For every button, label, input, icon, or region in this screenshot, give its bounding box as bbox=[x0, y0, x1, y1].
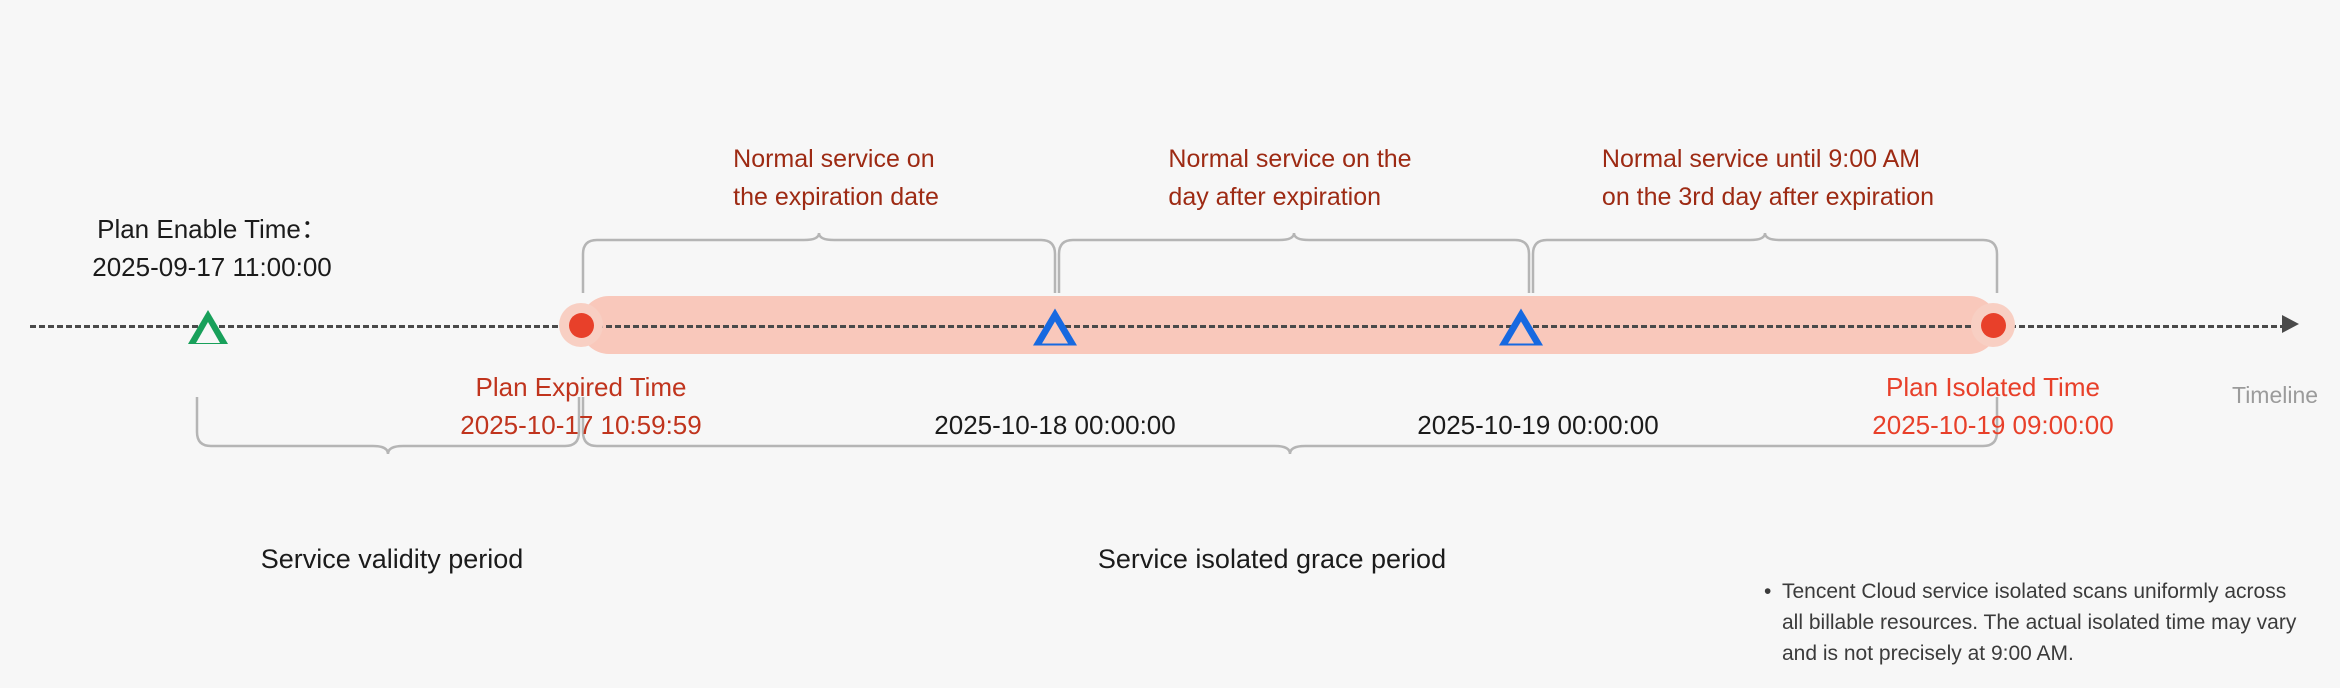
circle-red-inner-2 bbox=[1981, 313, 2006, 338]
service-isolated-grace-period-label: Service isolated grace period bbox=[1098, 540, 1446, 578]
triangle-green-outline-icon bbox=[188, 310, 228, 344]
footnote: • Tencent Cloud service isolated scans u… bbox=[1782, 576, 2302, 669]
plan-enable-time: 2025-09-17 11:00:00 bbox=[92, 248, 332, 286]
circle-red-filled-icon bbox=[559, 303, 603, 347]
timeline-axis-label: Timeline bbox=[2232, 382, 2318, 409]
third-day-after-expiration-time: 2025-10-19 00:00:00 bbox=[1417, 406, 1658, 444]
brace-normal-service-third-day bbox=[1532, 232, 1998, 294]
footnote-text: Tencent Cloud service isolated scans uni… bbox=[1782, 580, 2296, 665]
brace-normal-service-expiration-date bbox=[582, 232, 1056, 294]
plan-expired-time: 2025-10-17 10:59:59 bbox=[460, 406, 701, 444]
brace-normal-service-day-after bbox=[1058, 232, 1530, 294]
marker-plan-enable bbox=[188, 310, 228, 344]
day-after-expiration-time: 2025-10-18 00:00:00 bbox=[934, 406, 1175, 444]
timeline-arrow-icon bbox=[2282, 315, 2299, 333]
brace-service-isolated-grace-period bbox=[582, 396, 1998, 458]
marker-plan-expired bbox=[559, 303, 603, 347]
circle-red-filled-icon-2 bbox=[1971, 303, 2015, 347]
footnote-bullet: • bbox=[1764, 576, 1771, 607]
triangle-blue-outline-icon bbox=[1033, 309, 1077, 346]
top-note-3: Normal service until 9:00 AM on the 3rd … bbox=[1602, 140, 1934, 216]
marker-plan-isolated bbox=[1971, 303, 2015, 347]
plan-enable-title: Plan Enable Time： bbox=[97, 210, 327, 248]
timeline-axis bbox=[30, 325, 2286, 330]
service-validity-period-label: Service validity period bbox=[261, 540, 524, 578]
top-note-1: Normal service on the expiration date bbox=[733, 140, 939, 216]
top-note-2: Normal service on the day after expirati… bbox=[1168, 140, 1411, 216]
diagram-canvas: Timeline Normal service on the expiratio… bbox=[0, 0, 2340, 688]
triangle-blue-outline-icon-2 bbox=[1499, 309, 1543, 346]
plan-isolated-title: Plan Isolated Time bbox=[1886, 368, 2100, 406]
marker-day-after-expiration bbox=[1033, 309, 1077, 346]
circle-red-inner bbox=[569, 313, 594, 338]
plan-expired-title: Plan Expired Time bbox=[476, 368, 687, 406]
marker-third-day-after-expiration bbox=[1499, 309, 1543, 346]
plan-isolated-time: 2025-10-19 09:00:00 bbox=[1872, 406, 2113, 444]
